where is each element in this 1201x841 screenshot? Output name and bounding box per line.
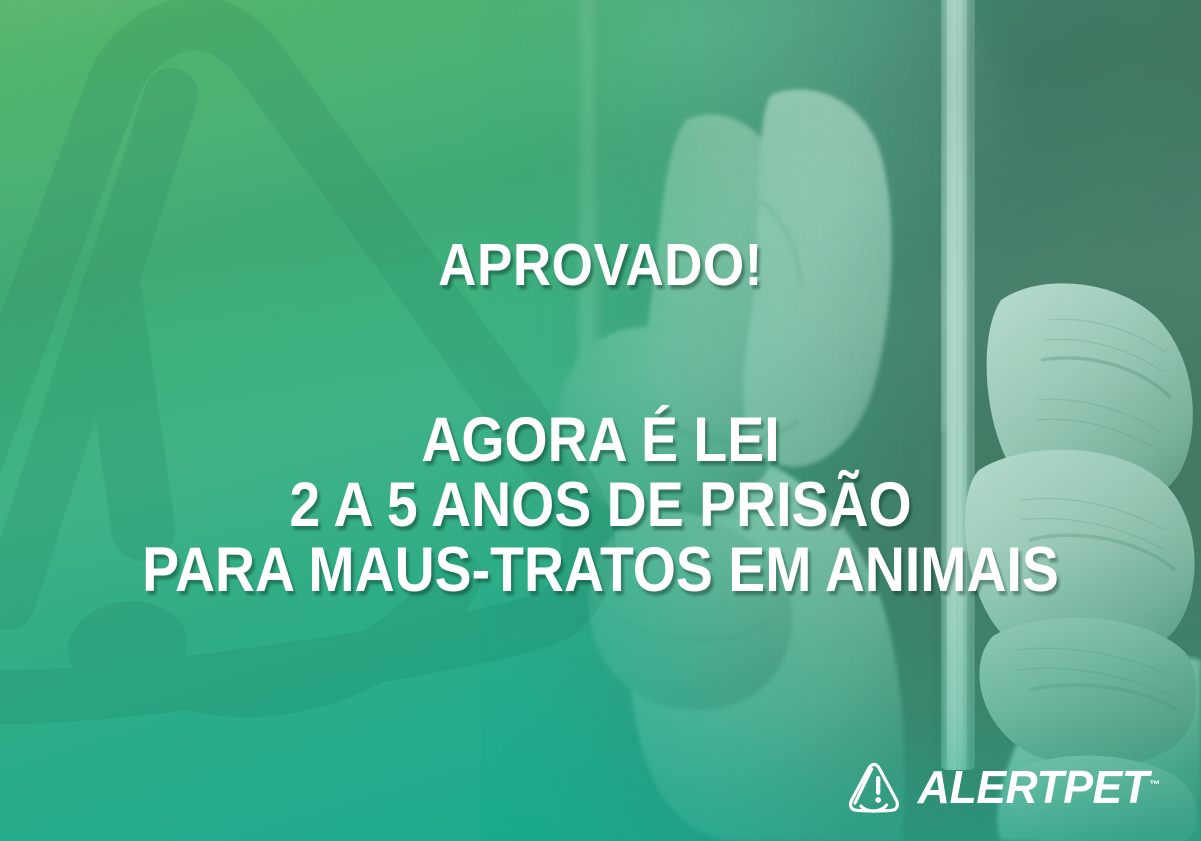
sub-headline-line-3: PARA MAUS-TRATOS EM ANIMAIS (72, 538, 1129, 603)
sub-headline-line-1: AGORA É LEI (72, 408, 1129, 473)
poster-canvas: APROVADO! AGORA É LEI 2 A 5 ANOS DE PRIS… (0, 0, 1201, 841)
sub-headline-line-2: 2 A 5 ANOS DE PRISÃO (72, 473, 1129, 538)
alert-triangle-exclamation-icon (847, 761, 901, 813)
brand-wordmark: ALERTPET ™ (918, 764, 1160, 810)
trademark-symbol: ™ (1150, 762, 1161, 808)
brand-wordmark-text: ALERTPET (918, 761, 1149, 813)
page-title: APROVADO! (60, 236, 1141, 295)
sub-headline-block: AGORA É LEI 2 A 5 ANOS DE PRISÃO PARA MA… (0, 408, 1201, 603)
brand-logo: ALERTPET ™ (847, 759, 1164, 815)
